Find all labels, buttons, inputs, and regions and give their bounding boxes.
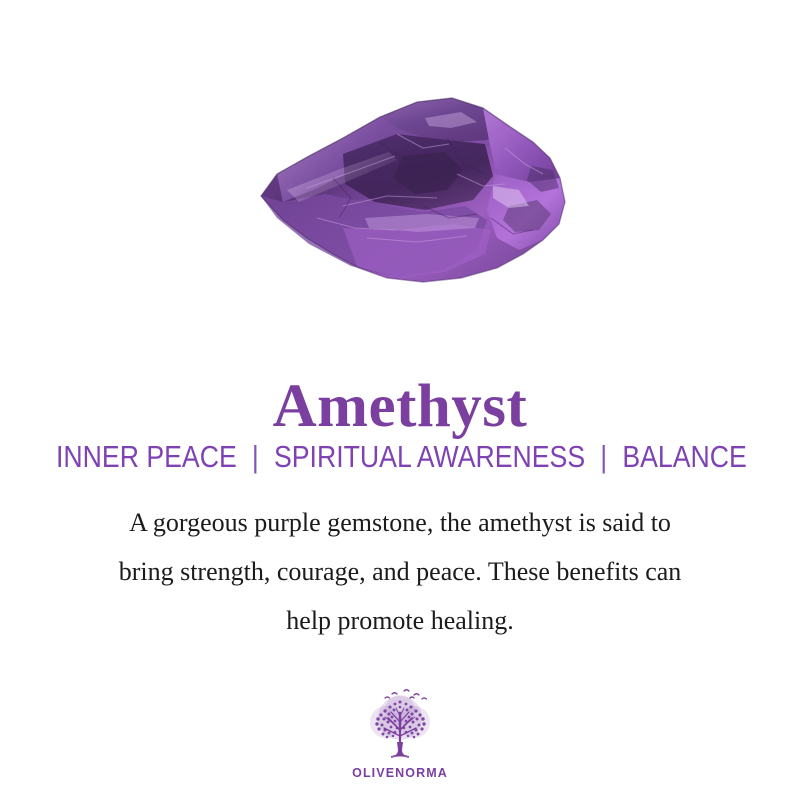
- keyword-balance: BALANCE: [622, 439, 746, 474]
- description-text: A gorgeous purple gemstone, the amethyst…: [0, 498, 800, 645]
- tree-of-life-icon: [354, 684, 446, 764]
- description-line: bring strength, courage, and peace. Thes…: [0, 547, 800, 596]
- amethyst-crystal-svg: [247, 78, 577, 300]
- keyword-separator: |: [244, 438, 266, 476]
- description-line: help promote healing.: [0, 596, 800, 645]
- gemstone-hero: [0, 0, 800, 320]
- keyword-list: INNER PEACE | SPIRITUAL AWARENESS | BALA…: [56, 438, 744, 476]
- tree-roots: [391, 755, 409, 759]
- keyword-separator: |: [593, 438, 615, 476]
- keyword-inner-peace: INNER PEACE: [56, 439, 237, 474]
- description-line: A gorgeous purple gemstone, the amethyst…: [0, 498, 800, 547]
- brand-logo: OLIVENORMA: [0, 684, 800, 780]
- amethyst-product-card: Amethyst INNER PEACE | SPIRITUAL AWARENE…: [0, 0, 800, 800]
- brand-name: OLIVENORMA: [352, 766, 448, 780]
- tree-trunk: [394, 742, 406, 756]
- page-title: Amethyst: [0, 371, 800, 443]
- keyword-spiritual-awareness: SPIRITUAL AWARENESS: [274, 439, 585, 474]
- amethyst-crystal-image: [247, 78, 577, 300]
